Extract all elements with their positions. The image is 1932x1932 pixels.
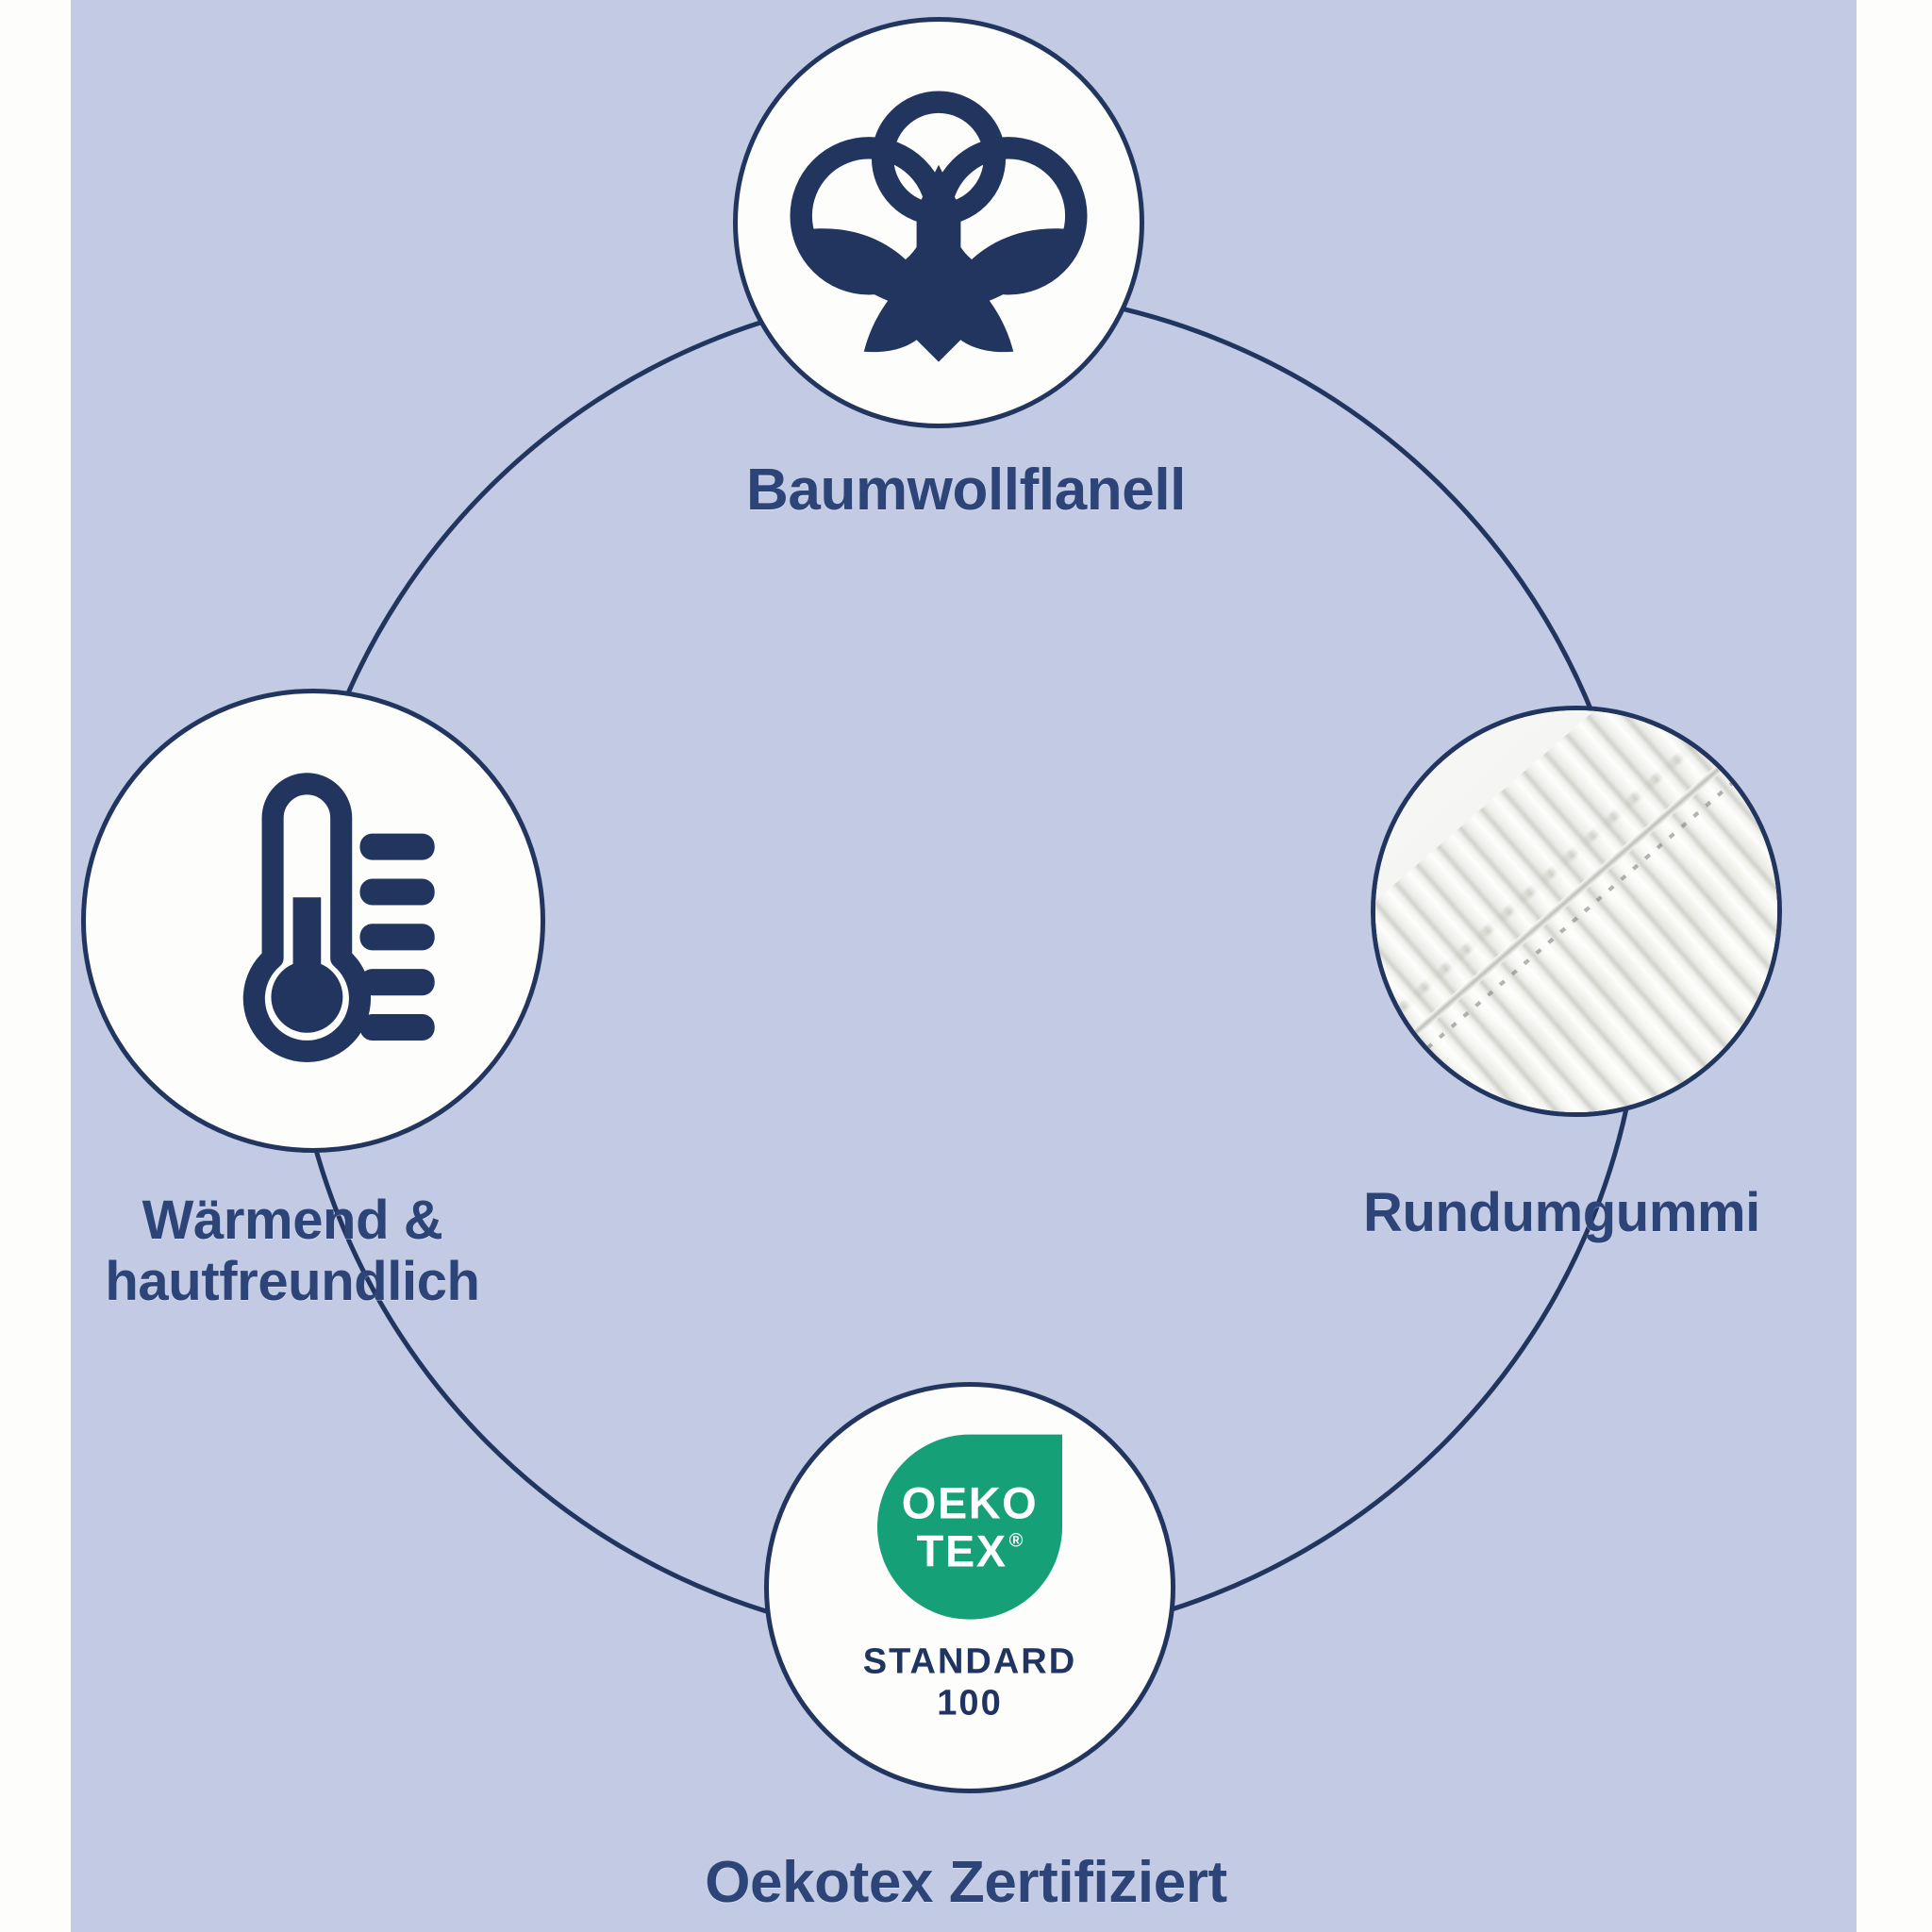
oeko-tex-line1: OEKO [902, 1481, 1038, 1525]
feature-node-waermend-hautfreundlich[interactable] [81, 689, 545, 1153]
oeko-tex-droplet: OEKO TEX ® [877, 1435, 1062, 1620]
oeko-tex-badge-icon: OEKO TEX ® STANDARD 100 [819, 1435, 1121, 1724]
feature-label-waermend-hautfreundlich: Wärmend & hautfreundlich [0, 1191, 585, 1313]
feature-label-rundumgummi: Rundumgummi [1363, 1184, 1932, 1241]
infographic-canvas: Baumwollflanell Wärmend & ha [0, 0, 1932, 1932]
feature-label-baumwollflanell: Baumwollflanell [0, 459, 1932, 522]
oeko-tex-standard-text: STANDARD [863, 1642, 1076, 1684]
feature-node-baumwollflanell[interactable] [733, 17, 1144, 428]
oeko-tex-standard-number: 100 [937, 1684, 1002, 1724]
thermometer-icon [86, 693, 541, 1148]
cotton-boll-glyph [769, 53, 1108, 392]
registered-trademark-icon: ® [1009, 1532, 1024, 1551]
feature-node-oekotex-zertifiziert[interactable]: OEKO TEX ® STANDARD 100 [764, 1382, 1175, 1793]
feature-label-oekotex-zertifiziert: Oekotex Zertifiziert [0, 1852, 1932, 1914]
feature-node-rundumgummi[interactable] [1371, 706, 1782, 1117]
elastic-hem-photo [1374, 708, 1779, 1114]
thermometer-glyph [158, 765, 469, 1076]
oeko-tex-line2: TEX [917, 1529, 1008, 1574]
oeko-tex-line2-wrap: TEX ® [917, 1529, 1024, 1574]
cotton-boll-icon [738, 22, 1140, 424]
